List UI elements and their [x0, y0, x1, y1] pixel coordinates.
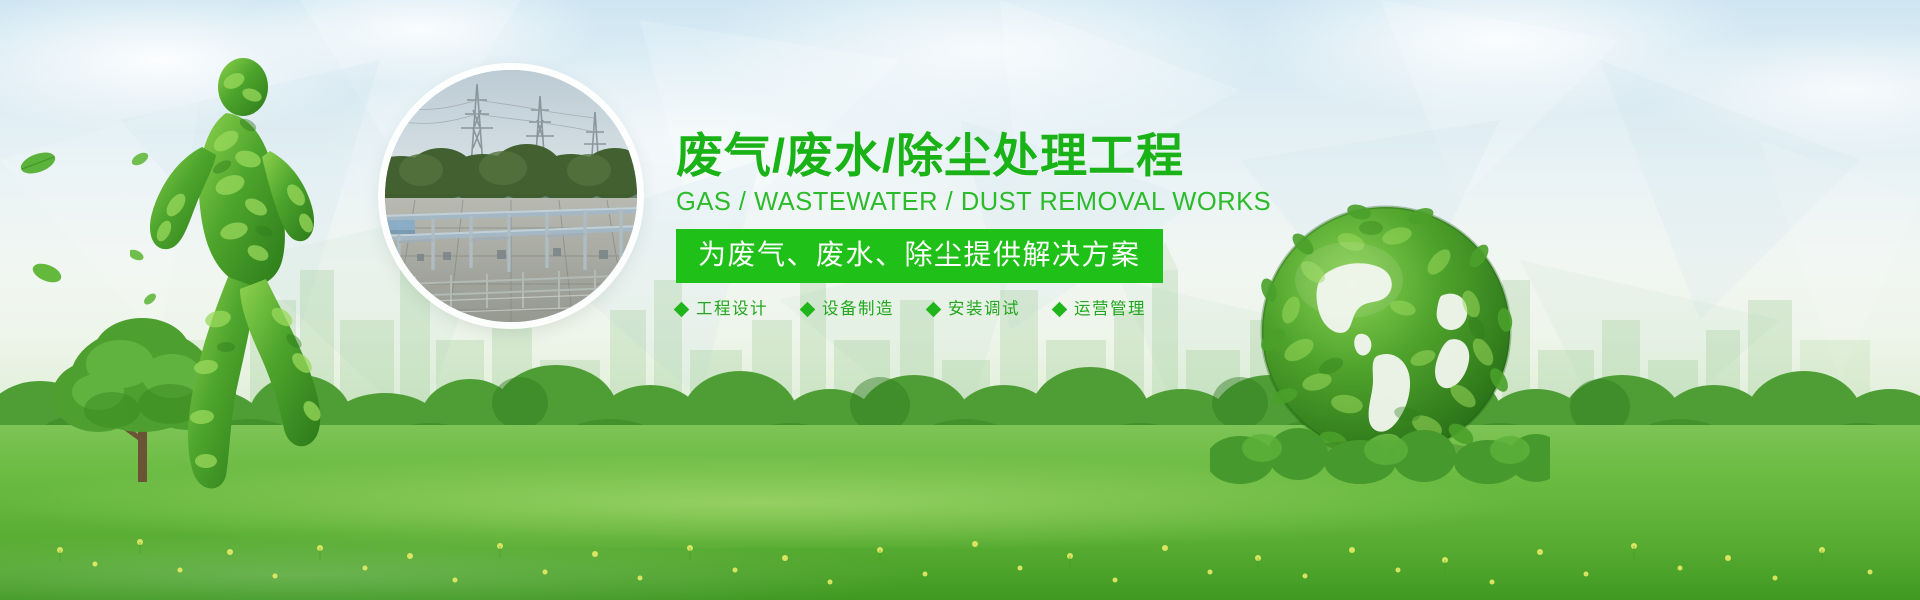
feature-label: 工程设计 [696, 299, 768, 319]
feature-label: 设备制造 [822, 299, 894, 319]
diamond-bullet-icon [1052, 301, 1068, 317]
diamond-bullet-icon [674, 301, 690, 317]
hero-banner: 废气/废水/除尘处理工程 GAS / WASTEWATER / DUST REM… [0, 0, 1920, 600]
page-title: 废气/废水/除尘处理工程 [676, 128, 1296, 184]
feature-list: 工程设计 设备制造 安装调试 运营管理 [676, 299, 1296, 319]
shrub-cluster [1210, 404, 1550, 499]
diamond-bullet-icon [800, 301, 816, 317]
tagline-bar: 为废气、废水、除尘提供解决方案 [676, 229, 1163, 283]
tagline-text: 为废气、废水、除尘提供解决方案 [698, 239, 1141, 270]
floating-leaf-icon [30, 262, 64, 289]
feature-item-manufacturing[interactable]: 设备制造 [802, 299, 894, 319]
diamond-bullet-icon [926, 301, 942, 317]
page-subtitle: GAS / WASTEWATER / DUST REMOVAL WORKS [676, 187, 1296, 217]
wastewater-plant-photo [385, 70, 637, 322]
leaf-man-figure [130, 55, 380, 495]
feature-label: 安装调试 [948, 299, 1020, 319]
hero-text-block: 废气/废水/除尘处理工程 GAS / WASTEWATER / DUST REM… [676, 128, 1296, 319]
feature-item-design[interactable]: 工程设计 [676, 299, 768, 319]
feature-item-installation[interactable]: 安装调试 [928, 299, 1020, 319]
floating-leaf-icon [18, 150, 58, 181]
feature-label: 运营管理 [1074, 299, 1146, 319]
feature-item-operations[interactable]: 运营管理 [1054, 299, 1146, 319]
